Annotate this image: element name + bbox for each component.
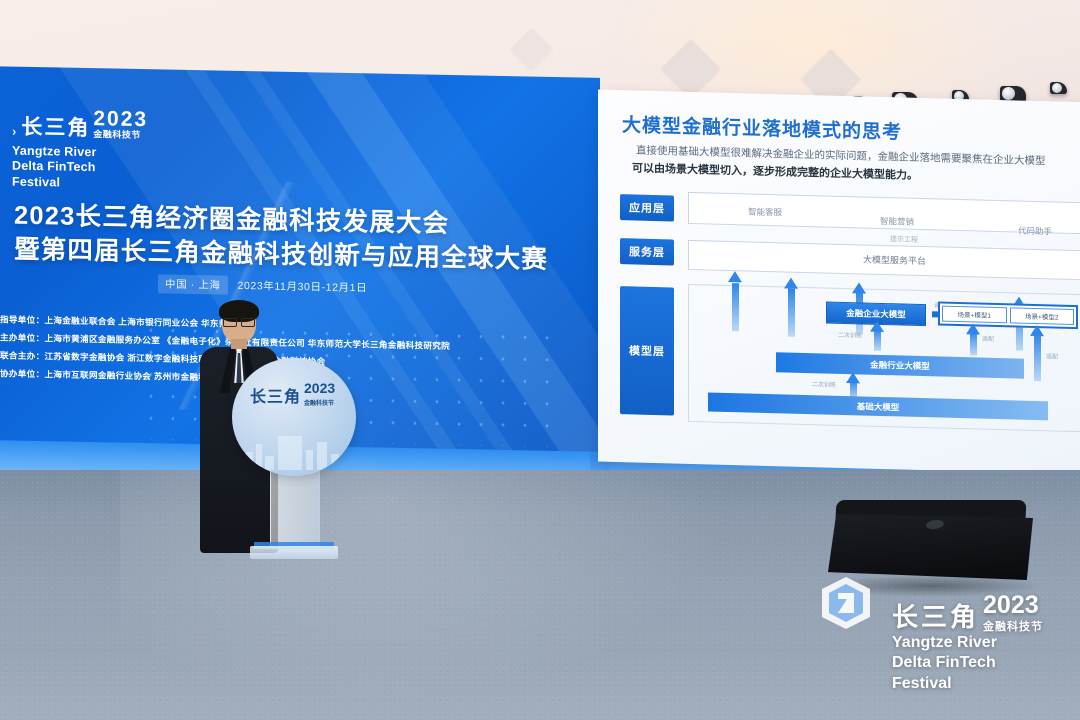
slide-app-item: 智能客服 xyxy=(748,205,782,218)
slide-layer-tag-model: 模型层 xyxy=(620,286,674,415)
watermark-year: 2023 xyxy=(983,593,1043,618)
lectern-logo-festival: 金融科技节 xyxy=(304,398,335,407)
watermark-festival-cn: 金融科技节 xyxy=(983,618,1043,634)
upward-arrow-icon xyxy=(966,323,980,334)
upward-arrow-icon xyxy=(846,372,860,383)
skyline-bar xyxy=(265,456,274,470)
projection-screen: 大模型金融行业落地模式的思考 直接使用基础大模型很难解决金融企业的实际问题，金融… xyxy=(598,90,1080,475)
logo-year: 2023 xyxy=(93,107,148,131)
slide-layer-tag-service: 服务层 xyxy=(620,238,674,265)
glasses-icon xyxy=(223,318,255,325)
lectern-logo: 长三角 2023 金融科技节 xyxy=(250,380,335,407)
slide-scenario-model-group: 场景+模型1 场景+模型2 xyxy=(938,301,1078,329)
logo-mark-icon: › xyxy=(12,125,18,138)
event-date-location: 中国 · 上海 2023年11月30日-12月1日 xyxy=(158,274,367,297)
skyline-bar xyxy=(256,444,262,470)
slide-scenario-box: 场景+模型1 xyxy=(942,306,1007,324)
event-date: 2023年11月30日-12月1日 xyxy=(238,278,368,295)
shield-logo-icon xyxy=(820,575,872,631)
upward-arrow-stem xyxy=(874,329,881,351)
arrow-label: 适配 xyxy=(1046,351,1058,360)
slide-app-item: 智能营销 xyxy=(880,215,914,228)
lectern-logo-year: 2023 xyxy=(304,380,335,396)
logo-chinese: 长三角 xyxy=(21,117,90,139)
upward-arrow-icon xyxy=(728,271,742,282)
watermark-english-line3: Festival xyxy=(892,674,997,694)
slide-app-item: 代码助手 xyxy=(1018,225,1052,238)
watermark-english-line2: Delta FinTech xyxy=(892,653,997,673)
skyline-bar xyxy=(278,436,302,470)
lectern-base xyxy=(250,546,338,559)
lectern: 长三角 2023 金融科技节 xyxy=(232,358,356,563)
slide-title: 大模型金融行业落地模式的思考 xyxy=(622,110,902,144)
watermark-english: Yangtze River Delta FinTech Festival xyxy=(892,633,997,694)
skyline-bar xyxy=(331,454,339,470)
upward-arrow-stem xyxy=(1034,333,1041,381)
event-place: 中国 · 上海 xyxy=(158,274,228,294)
skyline-bar xyxy=(317,442,327,470)
slide-layer-tag-application: 应用层 xyxy=(620,194,674,221)
lectern-logo-chinese: 长三角 xyxy=(250,383,301,407)
lectern-emblem: 长三角 2023 金融科技节 xyxy=(232,358,356,476)
upward-arrow-icon xyxy=(1030,325,1044,336)
upward-arrow-stem xyxy=(970,331,977,355)
arrow-label: 二次训练 xyxy=(838,330,862,340)
conference-stage-photo: › 长三角 2023 金融科技节 Yangtze River Delta Fin… xyxy=(0,0,1080,720)
backdrop-logo: › 长三角 2023 金融科技节 Yangtze River Delta Fin… xyxy=(12,107,148,192)
lectern-skyline-graphic xyxy=(240,416,348,470)
slide-scenario-box: 场景+模型2 xyxy=(1010,307,1075,325)
skyline-bar xyxy=(246,452,253,470)
skyline-bar xyxy=(306,450,313,470)
watermark-chinese-lockup: 长三角 2023 金融科技节 xyxy=(892,593,1043,634)
upward-arrow-stem xyxy=(788,289,795,337)
event-title: 2023长三角经济圈金融科技发展大会 暨第四届长三角金融科技创新与应用全球大赛 xyxy=(14,200,548,278)
watermark-chinese: 长三角 xyxy=(892,597,979,634)
stage-truss-light-icon xyxy=(1050,82,1067,94)
watermark-logo: 长三角 2023 金融科技节 Yangtze River Delta FinTe… xyxy=(820,575,1070,705)
arrow-label: 二次训练 xyxy=(812,379,836,389)
slide-service-platform-label: 大模型服务平台 xyxy=(863,252,926,267)
upward-arrow-icon xyxy=(852,282,866,293)
logo-english-line3: Festival xyxy=(12,174,148,192)
upward-arrow-icon xyxy=(870,321,884,332)
slide-prompt-engineering-label: 提示工程 xyxy=(890,234,918,245)
watermark-english-line1: Yangtze River xyxy=(892,633,997,653)
upward-arrow-icon xyxy=(784,277,798,288)
logo-festival-cn: 金融科技节 xyxy=(93,130,148,140)
upward-arrow-stem xyxy=(732,283,739,331)
arrow-label: 适配 xyxy=(982,334,994,343)
